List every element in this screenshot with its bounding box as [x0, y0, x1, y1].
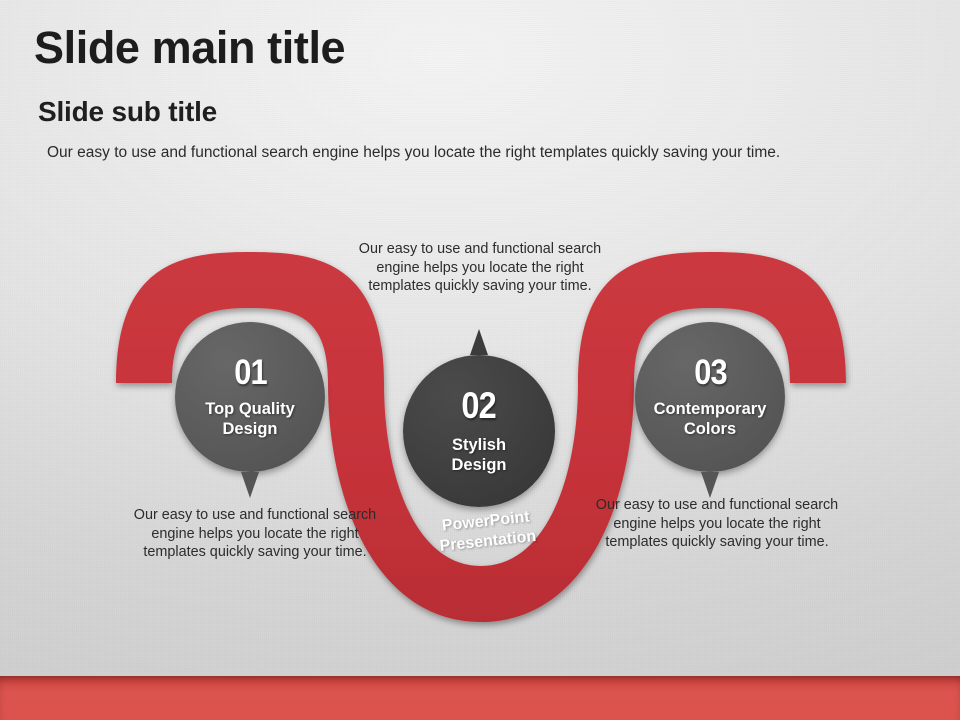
node-01-content: 01 Top Quality Design: [175, 322, 325, 472]
node-03-label-line2: Colors: [654, 419, 767, 439]
node-03-label: Contemporary Colors: [654, 399, 767, 440]
ribbon-label: PowerPoint Presentation: [415, 505, 559, 560]
node-01-number: 01: [234, 355, 267, 390]
node-03-label-line1: Contemporary: [654, 399, 767, 419]
footer-bar: [0, 676, 960, 720]
slide-canvas: Slide main title Slide sub title Our eas…: [0, 0, 960, 720]
description-right: Our easy to use and functional search en…: [592, 496, 842, 552]
node-02-label: Stylish Design: [451, 435, 506, 476]
node-03-number: 03: [694, 355, 727, 390]
description-left: Our easy to use and functional search en…: [130, 506, 380, 562]
node-01-label-line1: Top Quality: [205, 399, 295, 419]
node-02-content: 02 Stylish Design: [403, 355, 555, 507]
node-02-number: 02: [462, 387, 496, 424]
node-02-tail-icon: [470, 329, 488, 355]
node-02-label-line1: Stylish: [451, 435, 506, 455]
description-top: Our easy to use and functional search en…: [355, 240, 605, 296]
node-03-content: 03 Contemporary Colors: [635, 322, 785, 472]
page-lede-text: Our easy to use and functional search en…: [47, 144, 780, 162]
node-01-tail-icon: [241, 472, 259, 498]
node-02-label-line2: Design: [451, 455, 506, 475]
page-title: Slide main title: [34, 22, 345, 74]
node-03[interactable]: 03 Contemporary Colors: [635, 322, 785, 472]
node-01[interactable]: 01 Top Quality Design: [175, 322, 325, 472]
node-01-label-line2: Design: [205, 419, 295, 439]
node-03-tail-icon: [701, 472, 719, 498]
node-01-label: Top Quality Design: [205, 399, 295, 440]
node-02[interactable]: 02 Stylish Design: [403, 355, 555, 507]
page-subtitle: Slide sub title: [38, 96, 217, 128]
